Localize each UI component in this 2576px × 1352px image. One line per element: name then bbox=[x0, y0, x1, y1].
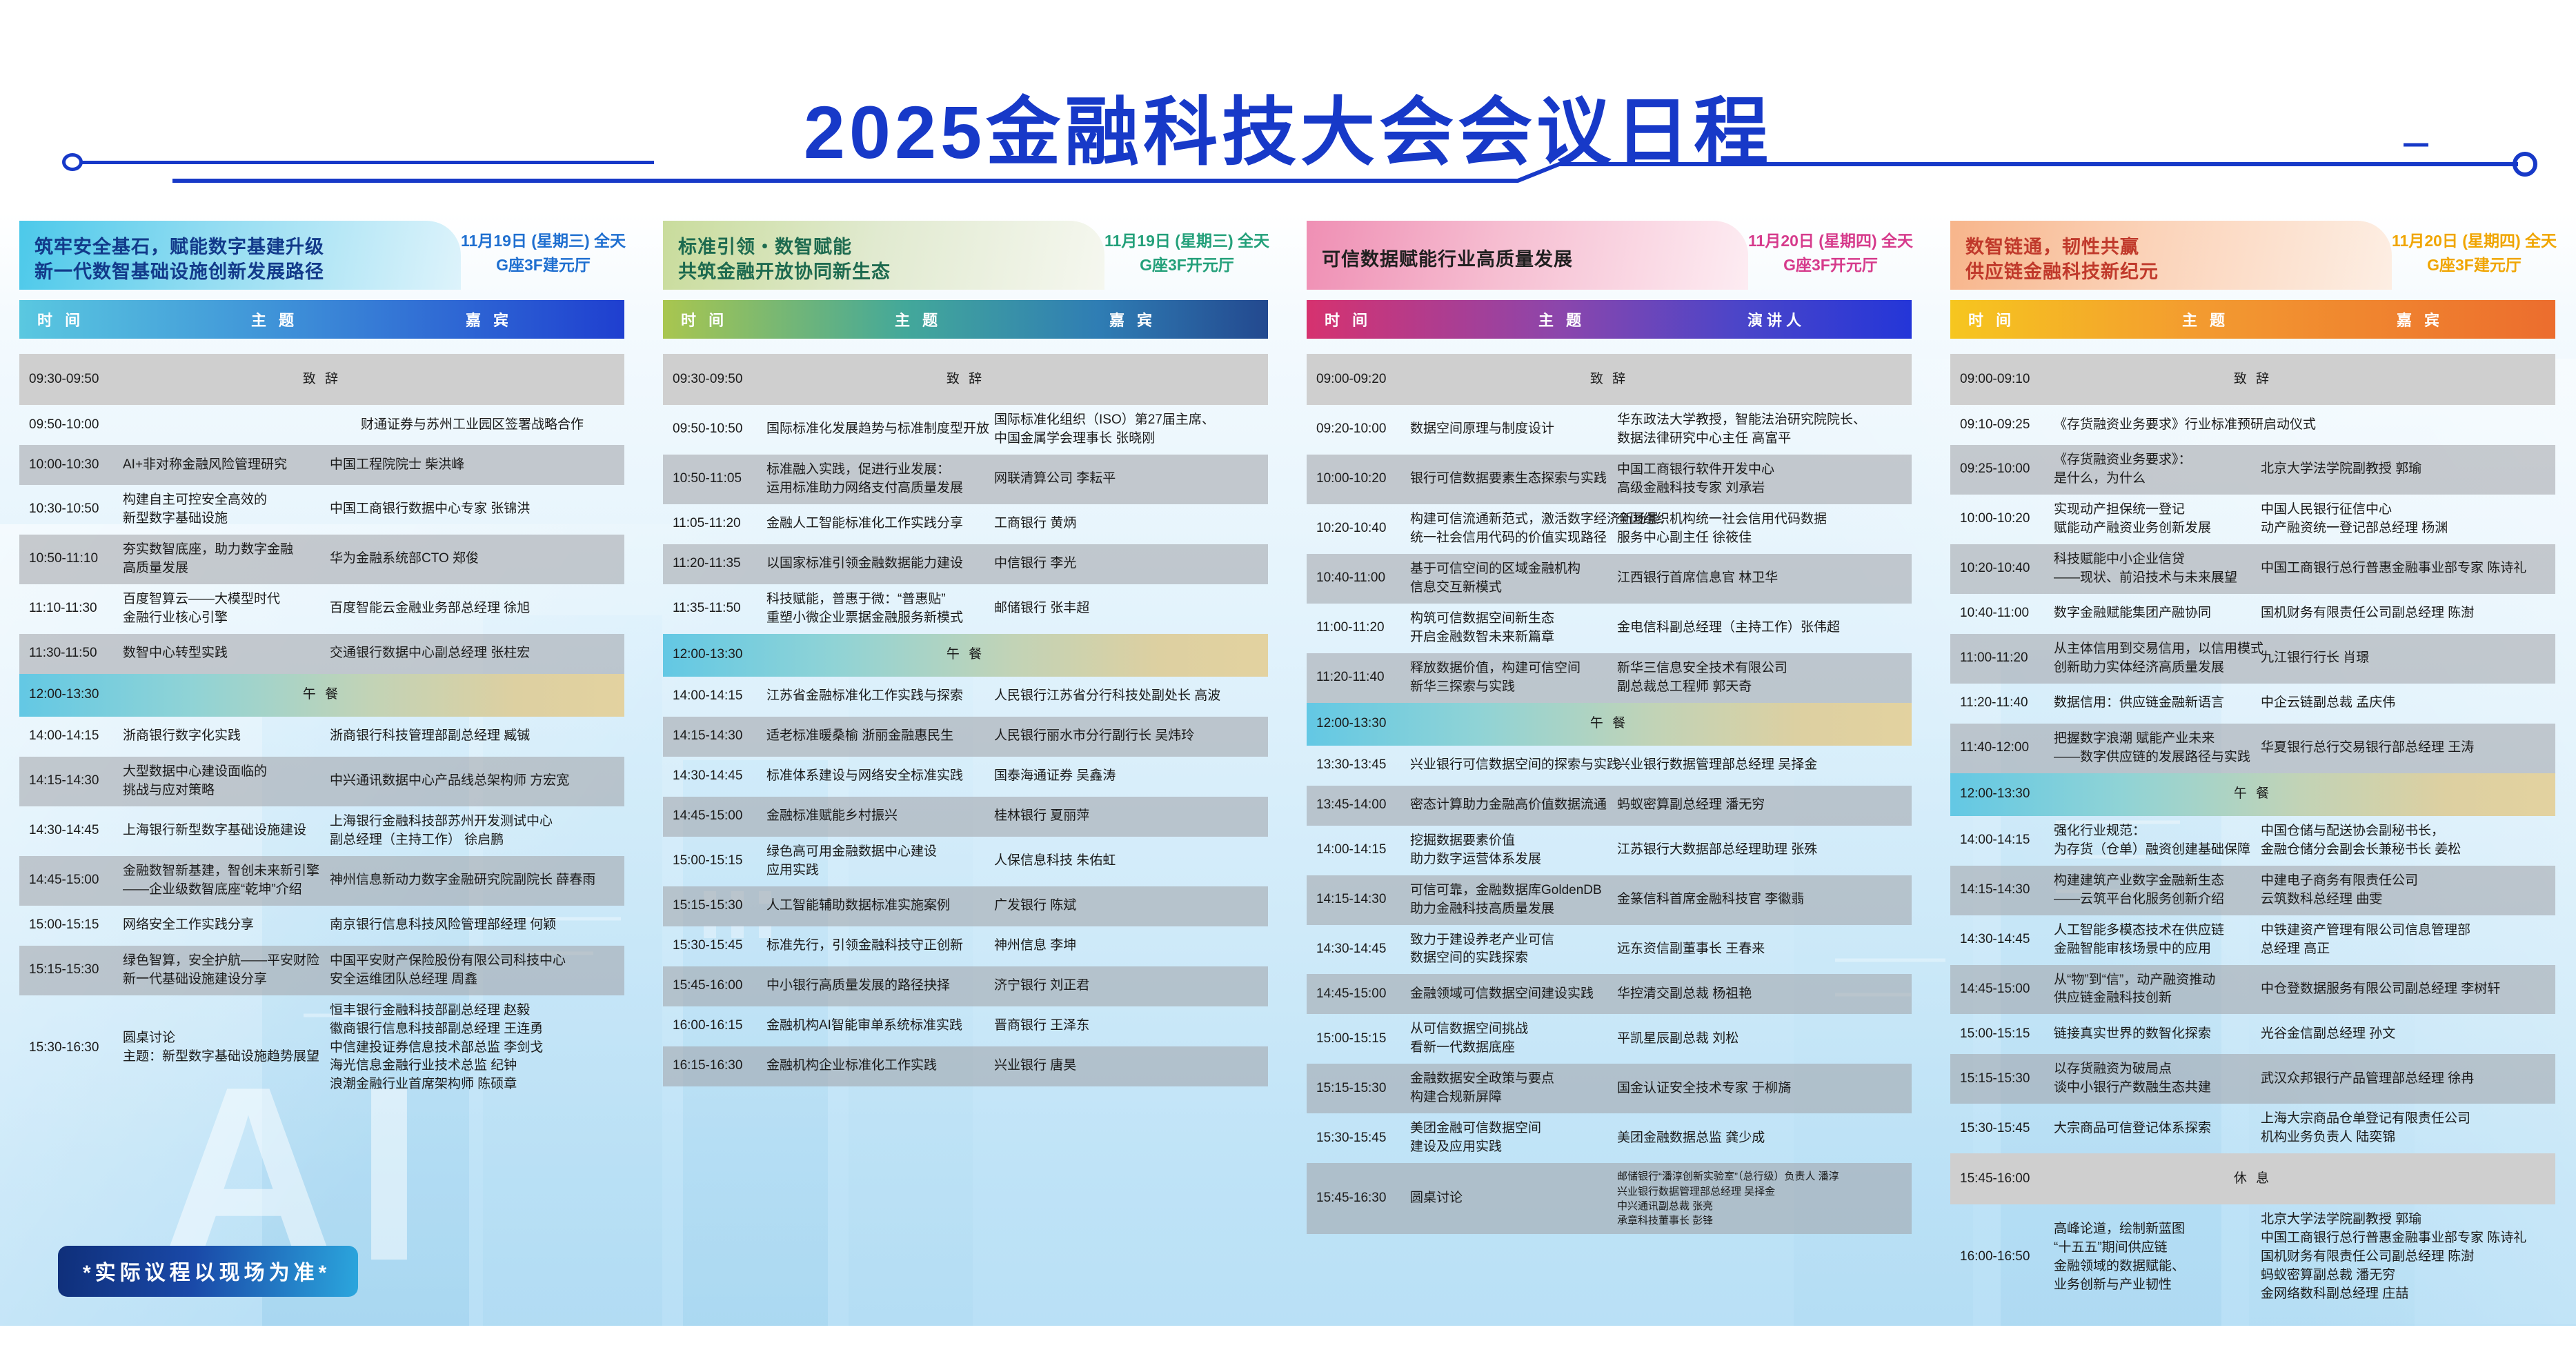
guest-line: 中兴通讯数据中心产品线总架构师 方宏宽 bbox=[330, 772, 615, 791]
column-title-line2: 供应链金融科技新纪元 bbox=[1965, 260, 2385, 285]
cell-time: 15:15-15:30 bbox=[19, 961, 123, 980]
guest-line: 中企云链副总裁 孟庆伟 bbox=[2261, 694, 2546, 713]
cell-time: 11:00-11:20 bbox=[1307, 619, 1410, 637]
cell-topic: 科技赋能，普惠于微：“普惠贴”重塑小微企业票据金融服务新模式 bbox=[766, 590, 994, 628]
cell-time: 14:45-15:00 bbox=[19, 871, 123, 890]
header-cell-time: 时 间 bbox=[19, 308, 147, 330]
topic-line: 密态计算助力金融高价值数据流通 bbox=[1410, 796, 1610, 815]
topic-line: 构建建筑产业数字金融新生态 bbox=[2054, 872, 2254, 891]
guest-line: 网联清算公司 李耘平 bbox=[994, 470, 1258, 488]
cell-guest: 邮储银行 张丰超 bbox=[994, 599, 1268, 618]
cell-topic: 江苏省金融标准化工作实践与探索 bbox=[766, 687, 994, 706]
topic-line: 标准体系建设与网络安全标准实践 bbox=[766, 767, 987, 786]
topic-line: 绿色智算，安全护航——平安财险 bbox=[123, 952, 323, 971]
cell-topic: 金融机构AI智能审单系统标准实践 bbox=[766, 1017, 994, 1035]
column-header: 标准引领・数智赋能共筑金融开放协同新生态11月19日 (星期三) 全天G座3F开… bbox=[663, 221, 1268, 293]
topic-line: 看新一代数据底座 bbox=[1410, 1039, 1610, 1057]
schedule-row: 15:15-15:30以存货融资为破局点谈中小银行产数融生态共建武汉众邦银行产品… bbox=[1950, 1054, 2555, 1104]
schedule-row: 14:00-14:15江苏省金融标准化工作实践与探索人民银行江苏省分行科技处副处… bbox=[663, 677, 1268, 717]
cell-time: 14:15-14:30 bbox=[663, 727, 766, 746]
guest-line: 金电信科副总经理（主持工作）张伟超 bbox=[1617, 619, 1902, 637]
cell-guest: 兴业银行 唐昊 bbox=[994, 1057, 1268, 1075]
schedule-row: 11:20-11:40释放数据价值，构建可信空间新华三探索与实践新华三信息安全技… bbox=[1307, 653, 1912, 703]
cell-topic: 网络安全工作实践分享 bbox=[123, 916, 330, 935]
schedule-row: 15:15-15:30金融数据安全政策与要点构建合规新屏障国金认证安全技术专家 … bbox=[1307, 1064, 1912, 1113]
cell-guest: 中国仓储与配送协会副秘书长，金融仓储分会副会长兼秘书长 姜松 bbox=[2261, 822, 2555, 859]
cell-guest: 晋商银行 王泽东 bbox=[994, 1017, 1268, 1035]
guest-line: 中信建投证券信息技术部总监 李剑戈 bbox=[330, 1039, 615, 1057]
cell-center-label: 午 餐 bbox=[1950, 785, 2555, 804]
guest-line: 国泰海通证券 吴鑫涛 bbox=[994, 767, 1258, 786]
column-title-line1: 数智链通，韧性共赢 bbox=[1965, 235, 2385, 260]
cell-topic: 绿色智算，安全护航——平安财险新一代基础设施建设分享 bbox=[123, 952, 330, 989]
cell-topic: AI+非对称金融风险管理研究 bbox=[123, 456, 330, 475]
cell-time: 14:30-14:45 bbox=[1307, 940, 1410, 959]
schedule-row: 14:45-15:00金融标准赋能乡村振兴桂林银行 夏丽萍 bbox=[663, 797, 1268, 837]
topic-line: 挖掘数据要素价值 bbox=[1410, 832, 1610, 851]
guest-line: 国机财务有限责任公司副总经理 陈澍 bbox=[2261, 604, 2546, 623]
topic-line: 统一社会信用代码的价值实现路径 bbox=[1410, 529, 1610, 548]
guest-line: 动产融资统一登记部总经理 杨渊 bbox=[2261, 519, 2546, 538]
topic-line: 运用标准助力网络支付高质量发展 bbox=[766, 479, 987, 498]
guest-line: 云筑数科总经理 曲雯 bbox=[2261, 891, 2546, 909]
column-title-line1: 标准引领・数智赋能 bbox=[678, 235, 1098, 260]
topic-line: 挑战与应对策略 bbox=[123, 782, 323, 800]
header-cell-topic: 主 题 bbox=[147, 308, 402, 330]
topic-line: 数据空间原理与制度设计 bbox=[1410, 420, 1610, 439]
schedule-row: 16:15-16:30金融机构企业标准化工作实践兴业银行 唐昊 bbox=[663, 1046, 1268, 1086]
schedule-rows: 09:30-09:50致 辞09:50-10:50国际标准化发展趋势与标准制度型… bbox=[663, 354, 1268, 1086]
page-header: 2025金融科技大会会议日程 bbox=[0, 0, 2576, 207]
column-header: 数智链通，韧性共赢供应链金融科技新纪元11月20日 (星期四) 全天G座3F建元… bbox=[1950, 221, 2555, 293]
schedule-row: 16:00-16:50高峰论道，绘制新蓝图“十五五”期间供应链金融领域的数据赋能… bbox=[1950, 1204, 2555, 1310]
cell-guest: 网联清算公司 李耘平 bbox=[994, 470, 1268, 488]
schedule-row: 14:15-14:30可信可靠，金融数据库GoldenDB助力金融科技高质量发展… bbox=[1307, 875, 1912, 925]
session-column-3: 可信数据赋能行业高质量发展11月20日 (星期四) 全天G座3F开元厅时 间主 … bbox=[1287, 221, 1931, 1324]
schedule-row: 10:00-10:20银行可信数据要素生态探索与实践中国工商银行软件开发中心高级… bbox=[1307, 455, 1912, 504]
cell-time: 16:00-16:50 bbox=[1950, 1248, 2054, 1266]
cell-guest: 北京大学法学院副教授 郭瑜中国工商银行总行普惠金融事业部专家 陈诗礼国机财务有限… bbox=[2261, 1211, 2555, 1304]
cell-topic: 人工智能多模态技术在供应链金融智能审核场景中的应用 bbox=[2054, 922, 2261, 959]
cell-guest: 兴业银行数据管理部总经理 吴择金 bbox=[1617, 756, 1912, 775]
cell-guest: 南京银行信息科技风险管理部经理 何颖 bbox=[330, 916, 624, 935]
schedule-row: 15:15-15:30人工智能辅助数据标准实施案例广发银行 陈斌 bbox=[663, 886, 1268, 926]
guest-line: 上海银行金融科技部苏州开发测试中心 bbox=[330, 813, 615, 831]
schedule-row: 15:00-15:15绿色高可用金融数据中心建设应用实践人保信息科技 朱佑虹 bbox=[663, 837, 1268, 886]
cell-time: 10:00-10:30 bbox=[19, 456, 123, 475]
topic-line: 从“物”到“信”，动产融资推动 bbox=[2054, 971, 2254, 990]
cell-time: 10:00-10:20 bbox=[1307, 470, 1410, 488]
topic-line: 标准先行，引领金融科技守正创新 bbox=[766, 937, 987, 955]
cell-time: 10:00-10:20 bbox=[1950, 510, 2054, 528]
cell-guest: 中信银行 李光 bbox=[994, 555, 1268, 573]
schedule-row: 10:40-11:00数字金融赋能集团产融协同国机财务有限责任公司副总经理 陈澍 bbox=[1950, 594, 2555, 634]
header-cell-guest: 嘉 宾 bbox=[402, 308, 624, 330]
topic-line: 构建自主可控安全高效的 bbox=[123, 491, 323, 510]
cell-topic: 高峰论道，绘制新蓝图“十五五”期间供应链金融领域的数据赋能、业务创新与产业韧性 bbox=[2054, 1220, 2261, 1295]
cell-time: 11:35-11:50 bbox=[663, 599, 766, 618]
cell-topic: 金融标准赋能乡村振兴 bbox=[766, 807, 994, 826]
guest-line: 总经理 高正 bbox=[2261, 940, 2546, 959]
guest-line: 中国平安财产保险股份有限公司科技中心 bbox=[330, 952, 615, 971]
cell-time: 10:50-11:10 bbox=[19, 550, 123, 568]
topic-line: 助力金融科技高质量发展 bbox=[1410, 900, 1610, 919]
cell-time: 10:20-10:40 bbox=[1950, 559, 2054, 578]
guest-line: 武汉众邦银行产品管理部总经理 徐冉 bbox=[2261, 1070, 2546, 1088]
topic-line: 强化行业规范： bbox=[2054, 822, 2254, 841]
cell-topic: 大宗商品可信登记体系探索 bbox=[2054, 1120, 2261, 1138]
guest-line: 新华三信息安全技术有限公司 bbox=[1617, 659, 1902, 678]
schedule-rows: 09:30-09:50致 辞09:50-10:00财通证券与苏州工业园区签署战略… bbox=[19, 354, 624, 1100]
cell-center-label: 致 辞 bbox=[19, 370, 624, 389]
schedule-row: 09:10-09:25《存货融资业务要求》行业标准预研启动仪式 bbox=[1950, 405, 2555, 445]
cell-guest: 中建电子商务有限责任公司云筑数科总经理 曲雯 bbox=[2261, 872, 2555, 909]
cell-time: 15:15-15:30 bbox=[663, 897, 766, 915]
cell-time: 11:20-11:40 bbox=[1950, 694, 2054, 713]
session-columns: 筑牢安全基石，赋能数字基建升级新一代数智基础设施创新发展路径11月19日 (星期… bbox=[0, 221, 2576, 1324]
cell-topic: 从主体信用到交易信用，以信用模式创新助力实体经济高质量发展 bbox=[2054, 640, 2261, 677]
topic-line: 数字金融赋能集团产融协同 bbox=[2054, 604, 2254, 623]
guest-line: 国金认证安全技术专家 于柳旖 bbox=[1617, 1080, 1902, 1098]
schedule-row: 09:50-10:50国际标准化发展趋势与标准制度型开放国际标准化组织（ISO）… bbox=[663, 405, 1268, 455]
cell-time: 11:10-11:30 bbox=[19, 599, 123, 618]
schedule-row: 13:45-14:00密态计算助力金融高价值数据流通蚂蚁密算副总经理 潘无穷 bbox=[1307, 786, 1912, 826]
schedule-row: 11:10-11:30百度智算云——大模型时代金融行业核心引擎百度智能云金融业务… bbox=[19, 584, 624, 634]
cell-center-label: 午 餐 bbox=[1307, 715, 1912, 733]
cell-topic: 密态计算助力金融高价值数据流通 bbox=[1410, 796, 1617, 815]
topic-line: 开启金融数智未来新篇章 bbox=[1410, 628, 1610, 647]
topic-line: 从主体信用到交易信用，以信用模式 bbox=[2054, 640, 2254, 659]
topic-line: 兴业银行可信数据空间的探索与实践 bbox=[1410, 756, 1610, 775]
schedule-row: 11:00-11:20从主体信用到交易信用，以信用模式创新助力实体经济高质量发展… bbox=[1950, 634, 2555, 684]
guest-line: 兴业银行数据管理部总经理 吴择金 bbox=[1617, 756, 1902, 775]
cell-topic: 以国家标准引领金融数据能力建设 bbox=[766, 555, 994, 573]
topic-line: 构筑可信数据空间新生态 bbox=[1410, 610, 1610, 628]
guest-line: 中国工商银行总行普惠金融事业部专家 陈诗礼 bbox=[2261, 559, 2546, 578]
schedule-row: 15:00-15:15网络安全工作实践分享南京银行信息科技风险管理部经理 何颖 bbox=[19, 906, 624, 946]
guest-line: 晋商银行 王泽东 bbox=[994, 1017, 1258, 1035]
cell-topic: 构建建筑产业数字金融新生态——云筑平台化服务创新介绍 bbox=[2054, 872, 2261, 909]
cell-guest: 华东政法大学教授，智能法治研究院院长、数据法律研究中心主任 高富平 bbox=[1617, 411, 1912, 448]
cell-topic: 大型数据中心建设面临的挑战与应对策略 bbox=[123, 763, 330, 800]
schedule-row: 09:50-10:00财通证券与苏州工业园区签署战略合作 bbox=[19, 405, 624, 445]
guest-line: 中建电子商务有限责任公司 bbox=[2261, 872, 2546, 891]
topic-line: 是什么，为什么 bbox=[2054, 470, 2254, 488]
cell-time: 14:45-15:00 bbox=[1950, 980, 2054, 999]
cell-guest: 国机财务有限责任公司副总经理 陈澍 bbox=[2261, 604, 2555, 623]
cell-topic: 百度智算云——大模型时代金融行业核心引擎 bbox=[123, 590, 330, 628]
cell-center-label: 午 餐 bbox=[663, 646, 1268, 664]
column-when-where: 11月19日 (星期三) 全天G座3F建元厅 bbox=[461, 221, 626, 277]
guest-line: 全国组织机构统一社会信用代码数据 bbox=[1617, 510, 1902, 529]
cell-guest: 蚂蚁密算副总经理 潘无穷 bbox=[1617, 796, 1912, 815]
cell-guest: 华控清交副总裁 杨祖艳 bbox=[1617, 985, 1912, 1004]
schedule-row: 14:30-14:45上海银行新型数字基础设施建设上海银行金融科技部苏州开发测试… bbox=[19, 806, 624, 856]
cell-guest: 华夏银行总行交易银行部总经理 王涛 bbox=[2261, 739, 2555, 757]
schedule-row: 14:00-14:15浙商银行数字化实践浙商银行科技管理部副总经理 臧铖 bbox=[19, 717, 624, 757]
topic-line: 江苏省金融标准化工作实践与探索 bbox=[766, 687, 987, 706]
guest-line: 国机财务有限责任公司副总经理 陈澍 bbox=[2261, 1248, 2546, 1266]
schedule-row: 10:40-11:00基于可信空间的区域金融机构信息交互新模式江西银行首席信息官… bbox=[1307, 554, 1912, 604]
column-when-where: 11月19日 (星期三) 全天G座3F开元厅 bbox=[1104, 221, 1269, 277]
schedule-row: 11:20-11:40数据信用：供应链金融新语言中企云链副总裁 孟庆伟 bbox=[1950, 684, 2555, 724]
cell-guest: 上海银行金融科技部苏州开发测试中心副总经理（主持工作） 徐启鹏 bbox=[330, 813, 624, 850]
cell-topic: 美团金融可信数据空间建设及应用实践 bbox=[1410, 1120, 1617, 1157]
schedule-row: 12:00-13:30午 餐 bbox=[19, 674, 624, 717]
schedule-row: 15:30-15:45大宗商品可信登记体系探索上海大宗商品仓单登记有限责任公司机… bbox=[1950, 1104, 2555, 1153]
schedule-row: 10:20-10:40科技赋能中小企业信贷——现状、前沿技术与未来展望中国工商银… bbox=[1950, 544, 2555, 594]
topic-line: 金融标准赋能乡村振兴 bbox=[766, 807, 987, 826]
header-cell-guest: 嘉 宾 bbox=[2333, 308, 2555, 330]
schedule-row: 15:45-16:00中小银行高质量发展的路径抉择济宁银行 刘正君 bbox=[663, 966, 1268, 1006]
cell-guest: 全国组织机构统一社会信用代码数据服务中心副主任 徐筱佳 bbox=[1617, 510, 1912, 548]
schedule-row: 15:00-15:15从可信数据空间挑战看新一代数据底座平凯星辰副总裁 刘松 bbox=[1307, 1014, 1912, 1064]
schedule-row: 14:15-14:30构建建筑产业数字金融新生态——云筑平台化服务创新介绍中建电… bbox=[1950, 866, 2555, 915]
guest-line: 北京大学法学院副教授 郭瑜 bbox=[2261, 460, 2546, 479]
topic-line: 圆桌讨论 bbox=[123, 1029, 323, 1048]
guest-line: 蚂蚁密算副总经理 潘无穷 bbox=[1617, 796, 1902, 815]
cell-topic: 科技赋能中小企业信贷——现状、前沿技术与未来展望 bbox=[2054, 550, 2261, 588]
topic-line: 为存货（仓单）融资创建基础保障 bbox=[2054, 841, 2254, 859]
schedule-row: 11:40-12:00把握数字浪潮 赋能产业未来——数字供应链的发展路径与实践华… bbox=[1950, 724, 2555, 773]
topic-line: 金融机构AI智能审单系统标准实践 bbox=[766, 1017, 987, 1035]
guest-line: 国际标准化组织（ISO）第27届主席、 bbox=[994, 411, 1258, 430]
cell-time: 15:15-15:30 bbox=[1950, 1070, 2054, 1088]
cell-topic: 数据信用：供应链金融新语言 bbox=[2054, 694, 2261, 713]
guest-line: 兴业银行数据管理部总经理 吴择金 bbox=[1617, 1184, 1902, 1199]
cell-time: 09:50-10:00 bbox=[19, 416, 123, 435]
cell-topic: 构建自主可控安全高效的新型数字基础设施 bbox=[123, 491, 330, 528]
column-title-banner: 可信数据赋能行业高质量发展 bbox=[1307, 221, 1748, 290]
cell-topic: 金融数智新基建，智创未来新引擎——企业级数智底座“乾坤”介绍 bbox=[123, 862, 330, 899]
cell-topic: 致力于建设养老产业可信数据空间的实践探索 bbox=[1410, 931, 1617, 968]
guest-line: 财通证券与苏州工业园区签署战略合作 bbox=[330, 416, 615, 435]
schedule-row: 15:30-16:30圆桌讨论主题：新型数字基础设施趋势展望恒丰银行金融科技部副… bbox=[19, 995, 624, 1101]
cell-time: 10:40-11:00 bbox=[1307, 569, 1410, 588]
topic-line: 人工智能辅助数据标准实施案例 bbox=[766, 897, 987, 915]
topic-line: 业务创新与产业韧性 bbox=[2054, 1276, 2254, 1295]
cell-guest: 上海大宗商品仓单登记有限责任公司机构业务负责人 陆奕锦 bbox=[2261, 1110, 2555, 1147]
topic-line: 银行可信数据要素生态探索与实践 bbox=[1410, 470, 1610, 488]
cell-time: 16:15-16:30 bbox=[663, 1057, 766, 1075]
schedule-row: 11:20-11:35以国家标准引领金融数据能力建设中信银行 李光 bbox=[663, 544, 1268, 584]
column-title-line2: 共筑金融开放协同新生态 bbox=[678, 260, 1098, 285]
column-title-banner: 数智链通，韧性共赢供应链金融科技新纪元 bbox=[1950, 221, 2392, 290]
topic-line: 应用实践 bbox=[766, 862, 987, 880]
cell-guest: 人民银行丽水市分行副行长 吴炜玲 bbox=[994, 727, 1268, 746]
cell-guest: 九江银行行长 肖璟 bbox=[2261, 649, 2555, 668]
cell-time: 10:40-11:00 bbox=[1950, 604, 2054, 623]
schedule-row: 15:15-15:30绿色智算，安全护航——平安财险新一代基础设施建设分享中国平… bbox=[19, 946, 624, 995]
cell-guest: 中铁建资产管理有限公司信息管理部总经理 高正 bbox=[2261, 922, 2555, 959]
cell-time: 11:40-12:00 bbox=[1950, 739, 2054, 757]
cell-guest: 武汉众邦银行产品管理部总经理 徐冉 bbox=[2261, 1070, 2555, 1088]
cell-guest: 人保信息科技 朱佑虹 bbox=[994, 852, 1268, 871]
topic-line: 网络安全工作实践分享 bbox=[123, 916, 323, 935]
cell-guest: 中企云链副总裁 孟庆伟 bbox=[2261, 694, 2555, 713]
schedule-row: 12:00-13:30午 餐 bbox=[663, 634, 1268, 677]
cell-guest: 北京大学法学院副教授 郭瑜 bbox=[2261, 460, 2555, 479]
schedule-row: 15:30-15:45美团金融可信数据空间建设及应用实践美团金融数据总监 龚少成 bbox=[1307, 1113, 1912, 1163]
cell-guest: 中国工商银行总行普惠金融事业部专家 陈诗礼 bbox=[2261, 559, 2555, 578]
cell-center-label: 致 辞 bbox=[1307, 370, 1912, 389]
cell-guest: 恒丰银行金融科技部副总经理 赵毅徽商银行信息科技部副总经理 王连勇中信建投证券信… bbox=[330, 1002, 624, 1095]
cell-guest: 中国平安财产保险股份有限公司科技中心安全运维团队总经理 周鑫 bbox=[330, 952, 624, 989]
guest-line: 中国工商银行软件开发中心 bbox=[1617, 461, 1902, 479]
schedule-row: 14:15-14:30适老标准暖桑榆 浙丽金融惠民生人民银行丽水市分行副行长 吴… bbox=[663, 717, 1268, 757]
guest-line: 江西银行首席信息官 林卫华 bbox=[1617, 569, 1902, 588]
topic-line: 夯实数智底座，助力数字金融 bbox=[123, 541, 323, 559]
cell-guest: 百度智能云金融业务部总经理 徐旭 bbox=[330, 599, 624, 618]
topic-line: 金融领域的数据赋能、 bbox=[2054, 1257, 2254, 1276]
topic-line: 数智中心转型实践 bbox=[123, 644, 323, 663]
topic-line: AI+非对称金融风险管理研究 bbox=[123, 456, 323, 475]
cell-time: 15:45-16:00 bbox=[663, 977, 766, 995]
topic-line: 构建可信流通新范式，激活数字经济新场景： bbox=[1410, 510, 1610, 529]
topic-line: 高质量发展 bbox=[123, 559, 323, 578]
header-cell-topic: 主 题 bbox=[2078, 308, 2333, 330]
topic-line: 美团金融可信数据空间 bbox=[1410, 1120, 1610, 1138]
topic-line: 金融智能审核场景中的应用 bbox=[2054, 940, 2254, 959]
cell-guest: 中国工商银行软件开发中心高级金融科技专家 刘承岩 bbox=[1617, 461, 1912, 498]
cell-time: 14:30-14:45 bbox=[663, 767, 766, 786]
schedule-row: 10:00-10:30AI+非对称金融风险管理研究中国工程院院士 柴洪峰 bbox=[19, 445, 624, 485]
guest-line: 承章科技董事长 彭锋 bbox=[1617, 1213, 1902, 1228]
header-cell-guest: 嘉 宾 bbox=[1046, 308, 1268, 330]
topic-line: 圆桌讨论 bbox=[1410, 1189, 1610, 1208]
column-date: 11月20日 (星期四) 全天 bbox=[2392, 229, 2557, 253]
topic-line: 供应链金融科技创新 bbox=[2054, 989, 2254, 1008]
cell-time: 15:30-16:30 bbox=[19, 1039, 123, 1057]
schedule-row: 11:30-11:50数智中心转型实践交通银行数据中心副总经理 张柱宏 bbox=[19, 634, 624, 674]
cell-topic: 强化行业规范：为存货（仓单）融资创建基础保障 bbox=[2054, 822, 2261, 859]
guest-line: 金网络数科副总经理 庄喆 bbox=[2261, 1285, 2546, 1304]
cell-guest: 中兴通讯数据中心产品线总架构师 方宏宽 bbox=[330, 772, 624, 791]
column-title-banner: 筑牢安全基石，赋能数字基建升级新一代数智基础设施创新发展路径 bbox=[19, 221, 461, 290]
cell-time: 14:45-15:00 bbox=[663, 807, 766, 826]
guest-line: 中仓登数据服务有限公司副总经理 李树轩 bbox=[2261, 980, 2546, 999]
cell-time: 09:50-10:50 bbox=[663, 420, 766, 439]
guest-line: 数据法律研究中心主任 高富平 bbox=[1617, 430, 1902, 448]
guest-line: 工商银行 黄炳 bbox=[994, 515, 1258, 533]
cell-guest: 中国工程院院士 柴洪峰 bbox=[330, 456, 624, 475]
cell-time: 15:45-16:30 bbox=[1307, 1189, 1410, 1208]
schedule-row: 14:45-15:00金融数智新基建，智创未来新引擎——企业级数智底座“乾坤”介… bbox=[19, 856, 624, 906]
cell-guest: 中国工商银行数据中心专家 张锦洪 bbox=[330, 500, 624, 519]
guest-line: 平凯星辰副总裁 刘松 bbox=[1617, 1030, 1902, 1048]
cell-guest: 神州信息 李坤 bbox=[994, 937, 1268, 955]
schedule-row: 14:00-14:15强化行业规范：为存货（仓单）融资创建基础保障中国仓储与配送… bbox=[1950, 816, 2555, 866]
cell-time: 15:00-15:15 bbox=[1307, 1030, 1410, 1048]
guest-line: 中国仓储与配送协会副秘书长， bbox=[2261, 822, 2546, 841]
guest-line: 南京银行信息科技风险管理部经理 何颖 bbox=[330, 916, 615, 935]
guest-line: 人民银行江苏省分行科技处副处长 高波 bbox=[994, 687, 1258, 706]
guest-line: 远东资信副董事长 王春来 bbox=[1617, 940, 1902, 959]
schedule-row: 10:20-10:40构建可信流通新范式，激活数字经济新场景：统一社会信用代码的… bbox=[1307, 504, 1912, 554]
column-venue: G座3F建元厅 bbox=[461, 253, 626, 277]
header-cell-time: 时 间 bbox=[1307, 308, 1434, 330]
column-title-line1: 可信数据赋能行业高质量发展 bbox=[1322, 248, 1741, 272]
guest-line: 副总裁总工程师 郭天奇 bbox=[1617, 678, 1902, 697]
disclaimer-badge: *实际议程以现场为准* bbox=[58, 1246, 358, 1297]
header-cell-time: 时 间 bbox=[663, 308, 791, 330]
cell-topic: 构筑可信数据空间新生态开启金融数智未来新篇章 bbox=[1410, 610, 1617, 647]
schedule-row: 09:25-10:00《存货融资业务要求》：是什么，为什么北京大学法学院副教授 … bbox=[1950, 445, 2555, 495]
topic-line: 科技赋能，普惠于微：“普惠贴” bbox=[766, 590, 987, 609]
cell-guest: 工商银行 黄炳 bbox=[994, 515, 1268, 533]
guest-line: 中国金属学会理事长 张晓刚 bbox=[994, 430, 1258, 448]
cell-guest: 浙商银行科技管理部副总经理 臧铖 bbox=[330, 727, 624, 746]
guest-line: 高级金融科技专家 刘承岩 bbox=[1617, 479, 1902, 498]
cell-topic: 人工智能辅助数据标准实施案例 bbox=[766, 897, 994, 915]
guest-line: 中国工商银行总行普惠金融事业部专家 陈诗礼 bbox=[2261, 1229, 2546, 1248]
column-date: 11月19日 (星期三) 全天 bbox=[461, 229, 626, 253]
topic-line: 重塑小微企业票据金融服务新模式 bbox=[766, 609, 987, 628]
schedule-row: 09:30-09:50致 辞 bbox=[663, 354, 1268, 405]
cell-topic: 适老标准暖桑榆 浙丽金融惠民生 bbox=[766, 727, 994, 746]
guest-line: 北京大学法学院副教授 郭瑜 bbox=[2261, 1211, 2546, 1229]
table-header: 时 间主 题演讲人 bbox=[1307, 300, 1912, 339]
cell-topic: 金融数据安全政策与要点构建合规新屏障 bbox=[1410, 1070, 1617, 1107]
cell-topic: 浙商银行数字化实践 bbox=[123, 727, 330, 746]
guest-line: 浪潮金融行业首席架构师 陈硕章 bbox=[330, 1075, 615, 1094]
schedule-rows: 09:00-09:10致 辞09:10-09:25《存货融资业务要求》行业标准预… bbox=[1950, 354, 2555, 1310]
cell-topic: 实现动产担保统一登记赋能动产融资业务创新发展 bbox=[2054, 501, 2261, 538]
guest-line: 邮储银行“潘淳创新实验室”（总行级）负责人 潘淳 bbox=[1617, 1169, 1902, 1184]
guest-line: 人保信息科技 朱佑虹 bbox=[994, 852, 1258, 871]
page-title: 2025金融科技大会会议日程 bbox=[0, 72, 2576, 180]
schedule-row: 15:45-16:30圆桌讨论邮储银行“潘淳创新实验室”（总行级）负责人 潘淳兴… bbox=[1307, 1163, 1912, 1234]
topic-line: 金融行业核心引擎 bbox=[123, 609, 323, 628]
guest-line: 江苏银行大数据部总经理助理 张殊 bbox=[1617, 841, 1902, 859]
topic-line: 以国家标准引领金融数据能力建设 bbox=[766, 555, 987, 573]
cell-topic: 绿色高可用金融数据中心建设应用实践 bbox=[766, 843, 994, 880]
cell-topic: 国际标准化发展趋势与标准制度型开放 bbox=[766, 420, 994, 439]
cell-guest: 江苏银行大数据部总经理助理 张殊 bbox=[1617, 841, 1912, 859]
schedule-row: 15:45-16:00休 息 bbox=[1950, 1153, 2555, 1204]
header-cell-guest: 演讲人 bbox=[1690, 308, 1912, 330]
guest-line: 浙商银行科技管理部副总经理 臧铖 bbox=[330, 727, 615, 746]
topic-line: 以存货融资为破局点 bbox=[2054, 1060, 2254, 1079]
schedule-row: 09:00-09:20致 辞 bbox=[1307, 354, 1912, 405]
column-header: 可信数据赋能行业高质量发展11月20日 (星期四) 全天G座3F开元厅 bbox=[1307, 221, 1912, 293]
header-cell-topic: 主 题 bbox=[791, 308, 1046, 330]
cell-time: 13:45-14:00 bbox=[1307, 796, 1410, 815]
table-header: 时 间主 题嘉 宾 bbox=[663, 300, 1268, 339]
guest-line: 中兴通讯副总裁 张亮 bbox=[1617, 1199, 1902, 1213]
cell-time: 15:00-15:15 bbox=[663, 852, 766, 871]
session-column-1: 筑牢安全基石，赋能数字基建升级新一代数智基础设施创新发展路径11月19日 (星期… bbox=[0, 221, 644, 1324]
guest-line: 华东政法大学教授，智能法治研究院院长、 bbox=[1617, 411, 1902, 430]
column-venue: G座3F建元厅 bbox=[2392, 253, 2557, 277]
cell-guest: 中国人民银行征信中心动产融资统一登记部总经理 杨渊 bbox=[2261, 501, 2555, 538]
cell-time: 14:15-14:30 bbox=[1307, 891, 1410, 909]
cell-time: 16:00-16:15 bbox=[663, 1017, 766, 1035]
cell-guest: 桂林银行 夏丽萍 bbox=[994, 807, 1268, 826]
cell-guest: 邮储银行“潘淳创新实验室”（总行级）负责人 潘淳兴业银行数据管理部总经理 吴择金… bbox=[1617, 1169, 1912, 1228]
topic-line: 高峰论道，绘制新蓝图 bbox=[2054, 1220, 2254, 1239]
cell-time: 11:05-11:20 bbox=[663, 515, 766, 533]
schedule-row: 15:30-15:45标准先行，引领金融科技守正创新神州信息 李坤 bbox=[663, 926, 1268, 966]
cell-center-label: 致 辞 bbox=[1950, 370, 2555, 389]
schedule-row: 14:15-14:30大型数据中心建设面临的挑战与应对策略中兴通讯数据中心产品线… bbox=[19, 757, 624, 806]
topic-line: 科技赋能中小企业信贷 bbox=[2054, 550, 2254, 569]
cell-topic: 中小银行高质量发展的路径抉择 bbox=[766, 977, 994, 995]
topic-line: 国际标准化发展趋势与标准制度型开放 bbox=[766, 420, 987, 439]
cell-topic: 把握数字浪潮 赋能产业未来——数字供应链的发展路径与实践 bbox=[2054, 730, 2261, 767]
topic-line: 大型数据中心建设面临的 bbox=[123, 763, 323, 782]
topic-line: 赋能动产融资业务创新发展 bbox=[2054, 519, 2254, 538]
